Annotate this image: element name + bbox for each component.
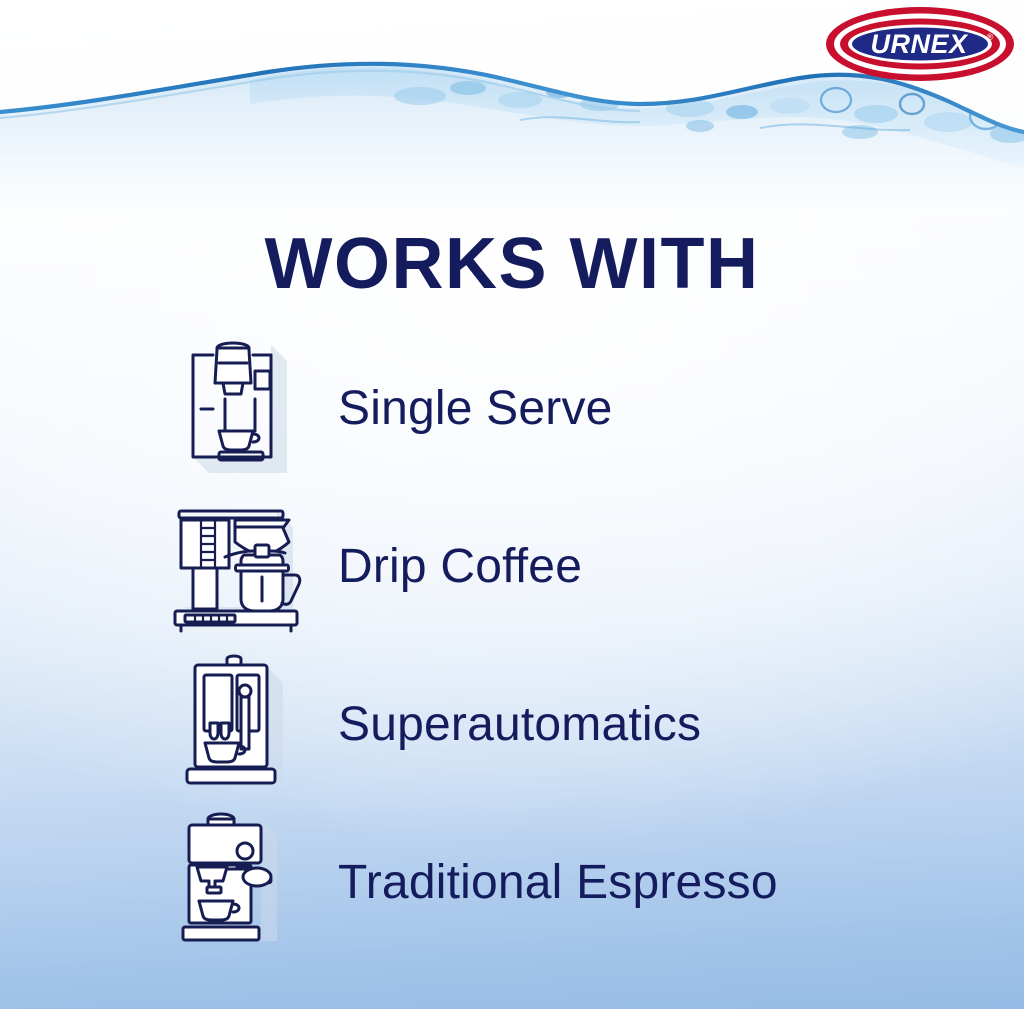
registered-trademark-icon: ® bbox=[987, 32, 994, 42]
urnex-logo: URNEX ® bbox=[822, 4, 1018, 84]
urnex-wordmark: URNEX bbox=[870, 29, 969, 59]
superautomatic-machine-icon bbox=[160, 653, 310, 798]
traditional-espresso-machine-icon bbox=[160, 811, 310, 956]
feature-row-superautomatics: Superautomatics bbox=[0, 646, 1024, 804]
feature-label-superautomatics: Superautomatics bbox=[338, 701, 701, 749]
feature-row-single-serve: Single Serve bbox=[0, 330, 1024, 488]
water-body bbox=[0, 64, 1024, 210]
feature-label-drip-coffee: Drip Coffee bbox=[338, 543, 582, 591]
feature-label-traditional-espresso: Traditional Espresso bbox=[338, 859, 778, 907]
feature-label-single-serve: Single Serve bbox=[338, 385, 613, 433]
single-serve-machine-icon bbox=[160, 337, 310, 482]
works-with-banner: URNEX ® WORKS WITH bbox=[0, 0, 1024, 1009]
feature-row-traditional-espresso: Traditional Espresso bbox=[0, 804, 1024, 962]
compatible-machines-list: Single Serve bbox=[0, 330, 1024, 962]
page-title: WORKS WITH bbox=[0, 228, 1024, 300]
feature-row-drip-coffee: Drip Coffee bbox=[0, 488, 1024, 646]
drip-coffee-maker-icon bbox=[160, 495, 310, 640]
